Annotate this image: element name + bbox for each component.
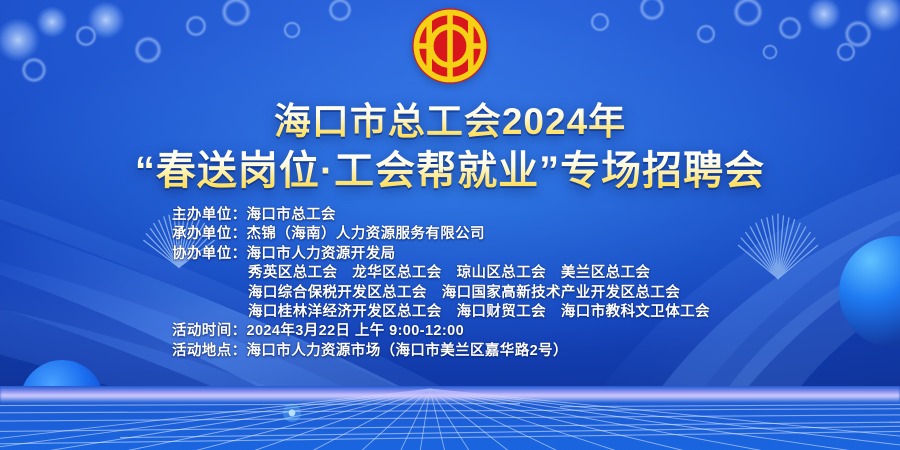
event-info-label: 活动地点： (172, 343, 247, 359)
event-info-value: 杰锦（海南）人力资源服务有限公司 (247, 226, 485, 242)
event-info-row: 活动时间：2024年3月22日 上午 9:00-12:00 (172, 322, 732, 341)
event-info-row: 海口桂林洋经济开发区总工会 海口财贸工会 海口市教科文卫体工会 (172, 303, 732, 322)
event-info-value: 海口市总工会 (247, 207, 336, 223)
event-info-value: 海口市人力资源市场（海口市美兰区嘉华路2号） (247, 343, 568, 359)
poster-title-block: 海口市总工会2024年 “春送岗位·工会帮就业”专场招聘会 (0, 100, 900, 195)
poster-canvas: 海口市总工会2024年 “春送岗位·工会帮就业”专场招聘会 主办单位：海口市总工… (0, 0, 900, 450)
ground-overlay (0, 386, 900, 450)
event-info-block: 主办单位：海口市总工会承办单位：杰锦（海南）人力资源服务有限公司协办单位：海口市… (0, 206, 900, 361)
event-info-value: 海口桂林洋经济开发区总工会 海口财贸工会 海口市教科文卫体工会 (248, 304, 710, 320)
event-info-label: 活动时间： (172, 323, 247, 339)
event-info-label: 承办单位： (172, 226, 247, 242)
event-info-value: 海口综合保税开发区总工会 海口国家高新技术产业开发区总工会 (248, 285, 680, 301)
event-info-row: 活动地点：海口市人力资源市场（海口市美兰区嘉华路2号） (172, 342, 732, 361)
event-info-value: 2024年3月22日 上午 9:00-12:00 (247, 323, 465, 339)
title-line-secondary: “春送岗位·工会帮就业”专场招聘会 (0, 148, 900, 195)
horizon-glow (0, 386, 900, 402)
title-line-primary: 海口市总工会2024年 (0, 100, 900, 144)
event-info-row: 秀英区总工会 龙华区总工会 琼山区总工会 美兰区总工会 (172, 264, 732, 283)
event-info-value: 海口市人力资源开发局 (247, 246, 396, 262)
event-info-row: 主办单位：海口市总工会 (172, 206, 732, 225)
event-info-value: 秀英区总工会 龙华区总工会 琼山区总工会 美兰区总工会 (248, 265, 650, 281)
event-info-row: 承办单位：杰锦（海南）人力资源服务有限公司 (172, 225, 732, 244)
event-info-label: 协办单位： (172, 246, 247, 262)
event-info-label: 主办单位： (172, 207, 247, 223)
event-info-rows: 主办单位：海口市总工会承办单位：杰锦（海南）人力资源服务有限公司协办单位：海口市… (168, 206, 732, 361)
event-info-row: 协办单位：海口市人力资源开发局 (172, 245, 732, 264)
event-info-row: 海口综合保税开发区总工会 海口国家高新技术产业开发区总工会 (172, 284, 732, 303)
china-trade-union-emblem-icon (410, 6, 490, 86)
